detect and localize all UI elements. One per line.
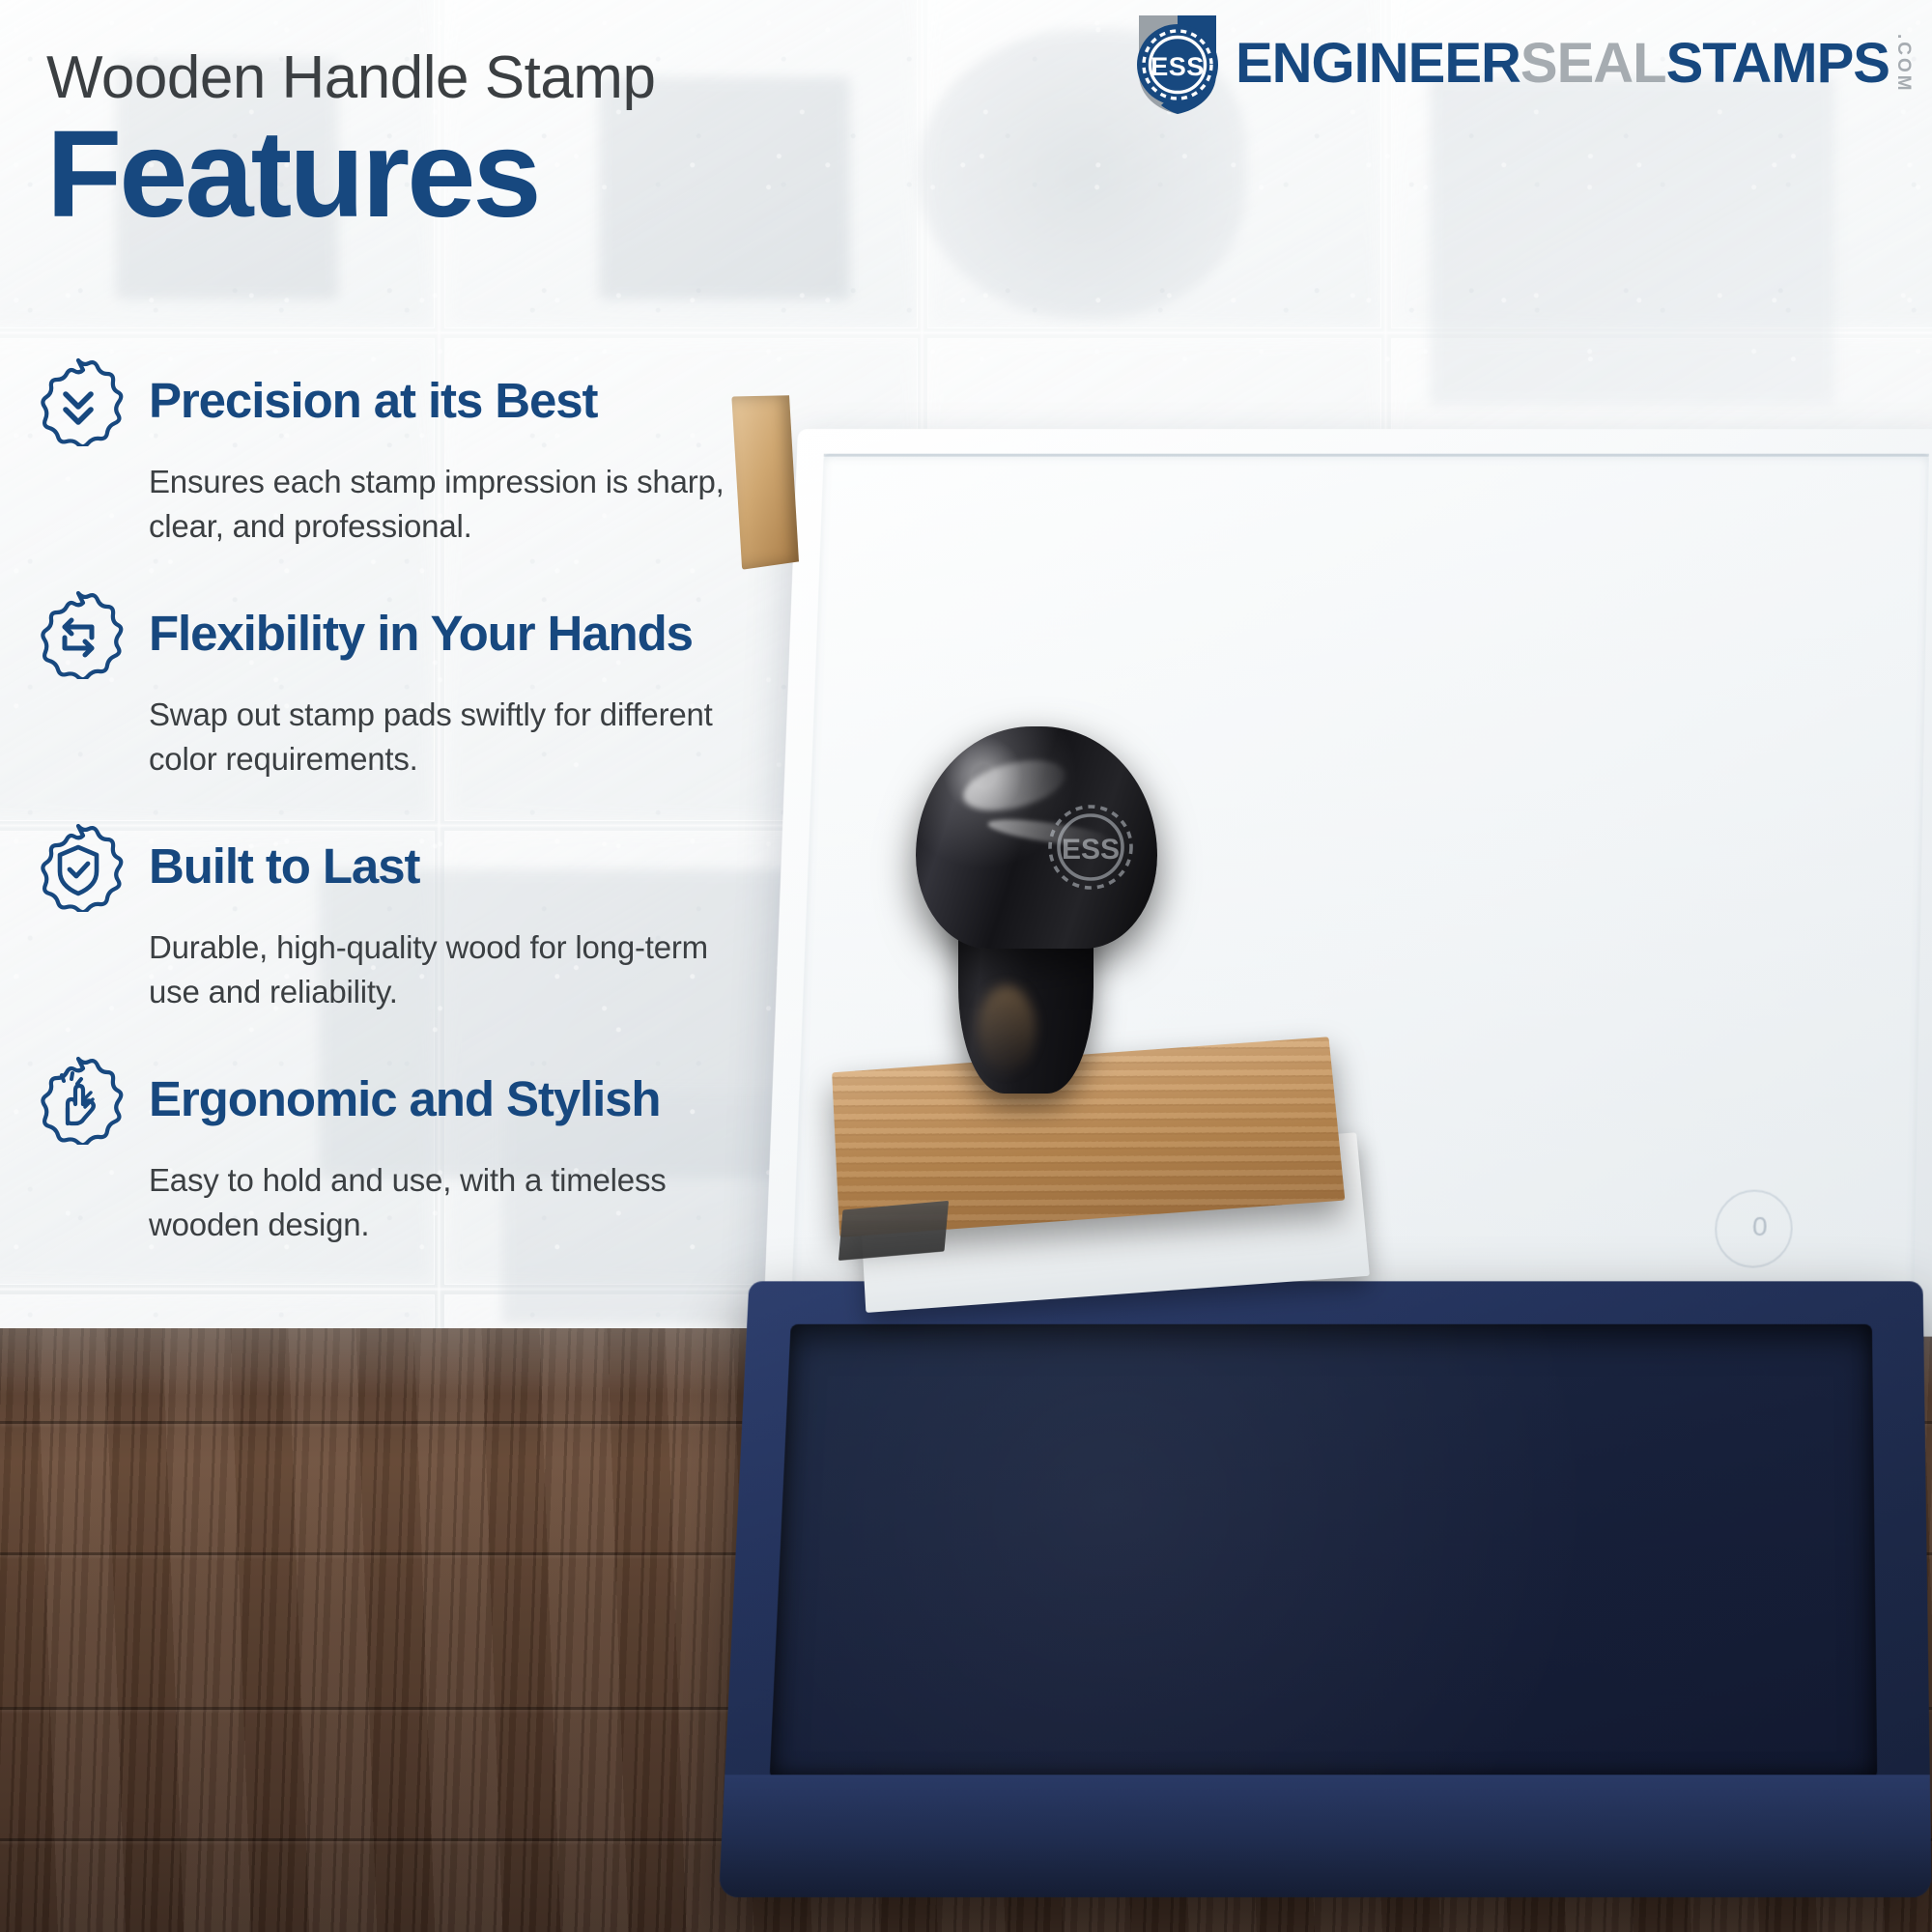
- chevrons-down-badge-icon: [33, 355, 124, 446]
- shield-check-badge-icon: [33, 821, 124, 912]
- header-block: Wooden Handle Stamp Features: [46, 46, 1012, 237]
- feature-title: Precision at its Best: [149, 375, 597, 427]
- feature-description: Ensures each stamp impression is sharp, …: [149, 460, 767, 548]
- svg-text:ESS: ESS: [1062, 834, 1120, 866]
- brand-logo[interactable]: ESS ENGINEER SEAL STAMPS .COM: [1125, 14, 1913, 114]
- feature-title: Flexibility in Your Hands: [149, 608, 693, 660]
- tap-hand-badge-icon: [33, 1054, 124, 1145]
- product-photo: 0 ESS: [734, 386, 1932, 1932]
- case-bottom-tray: [719, 1281, 1932, 1897]
- feature-title: Built to Last: [149, 840, 419, 893]
- logo-tld: .COM: [1894, 34, 1913, 94]
- feature-description: Easy to hold and use, with a timeless wo…: [149, 1158, 767, 1246]
- feature-title: Ergonomic and Stylish: [149, 1073, 660, 1125]
- logo-word-engineer: ENGINEER: [1236, 36, 1520, 92]
- swap-arrows-badge-icon: [33, 588, 124, 679]
- page-subtitle: Wooden Handle Stamp: [46, 46, 1012, 109]
- feature-description: Swap out stamp pads swiftly for differen…: [149, 693, 767, 781]
- ess-gear-emblem: ESS: [1034, 790, 1148, 904]
- case-lid-mark: 0: [1752, 1211, 1768, 1242]
- stamp-rubber-die: [838, 1201, 949, 1261]
- logo-word-seal: SEAL: [1520, 36, 1666, 92]
- stamp-wood-end-grain: [731, 395, 799, 570]
- infographic-canvas: Wooden Handle Stamp Features ESS ENGINEE…: [0, 0, 1932, 1932]
- gear-shield-icon: ESS: [1125, 12, 1230, 116]
- logo-word-stamps: STAMPS: [1666, 36, 1889, 92]
- page-title: Features: [46, 113, 1012, 237]
- svg-text:ESS: ESS: [1151, 52, 1205, 81]
- feature-description: Durable, high-quality wood for long-term…: [149, 925, 767, 1013]
